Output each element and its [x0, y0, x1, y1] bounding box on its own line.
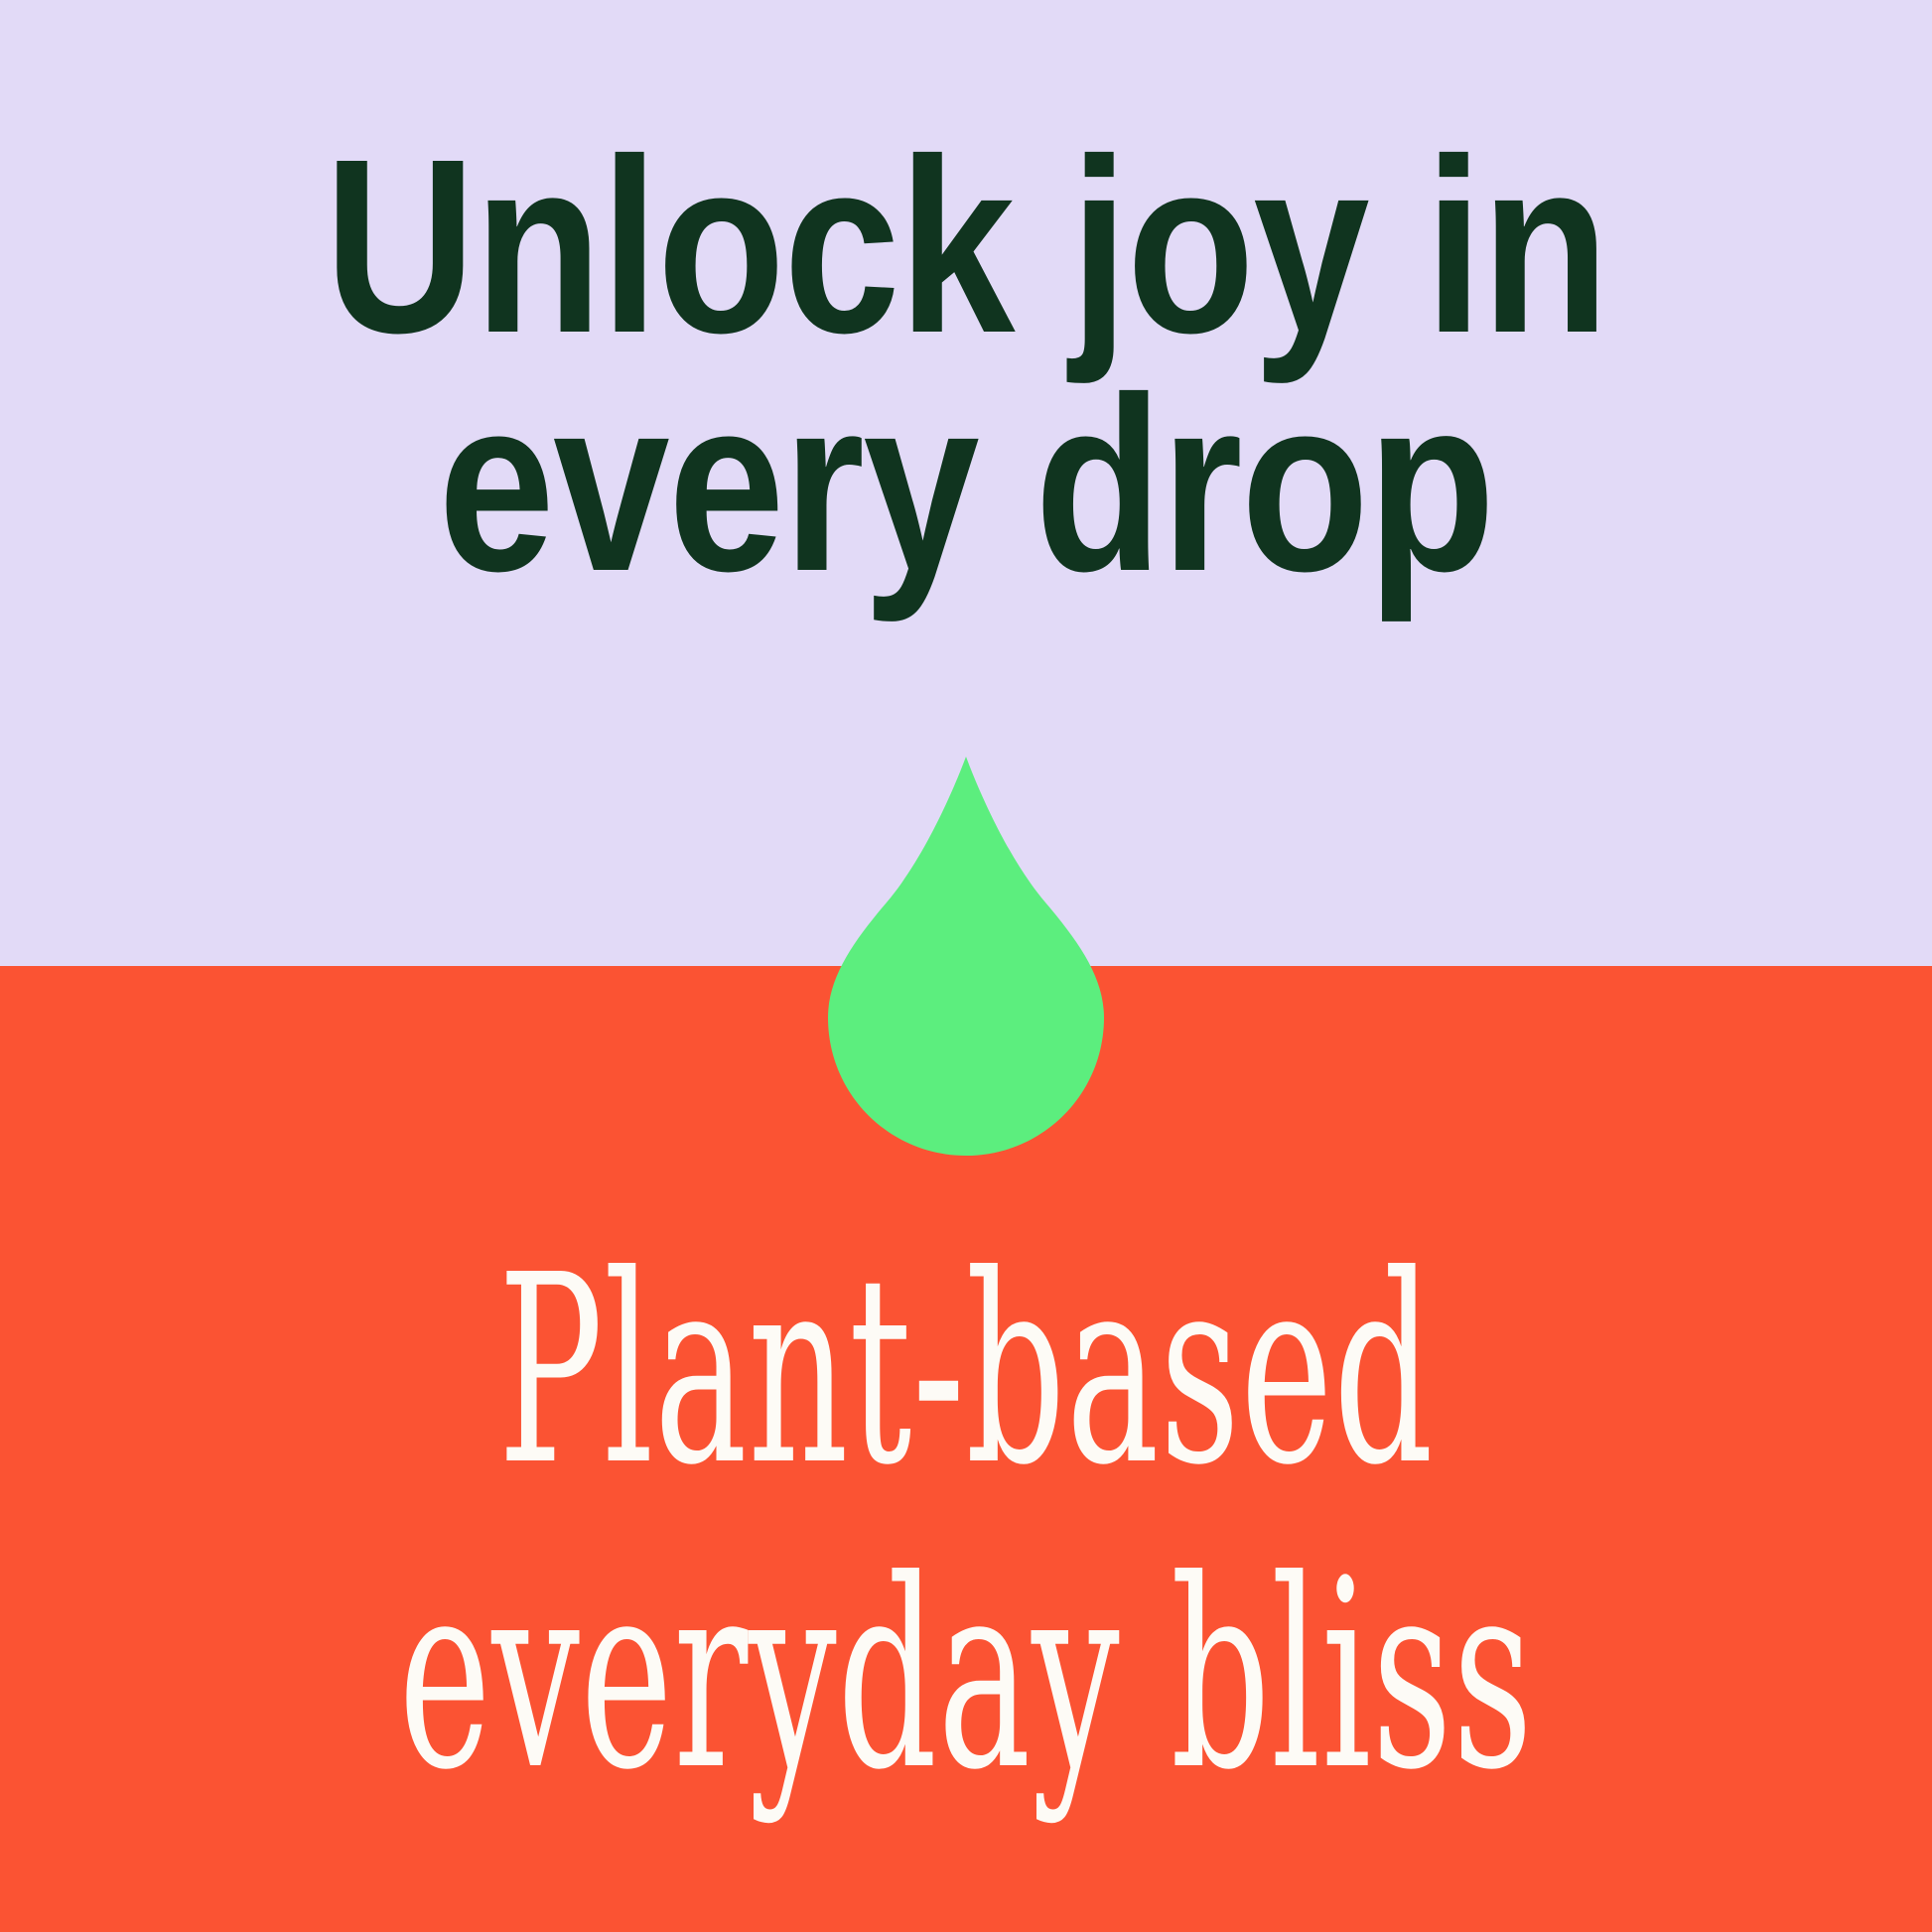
subhead-line-2: everyday bliss [386, 1524, 1546, 1829]
water-drop-icon [828, 757, 1104, 1156]
headline-line-2: every drop [150, 365, 1782, 604]
headline: Unlock joy in every drop [150, 127, 1782, 604]
subhead: Plant-based everyday bliss [386, 1219, 1546, 1828]
headline-line-1: Unlock joy in [150, 127, 1782, 365]
subhead-line-1: Plant-based [386, 1219, 1546, 1524]
poster-canvas: Unlock joy in every drop Plant-based eve… [0, 0, 1932, 1932]
